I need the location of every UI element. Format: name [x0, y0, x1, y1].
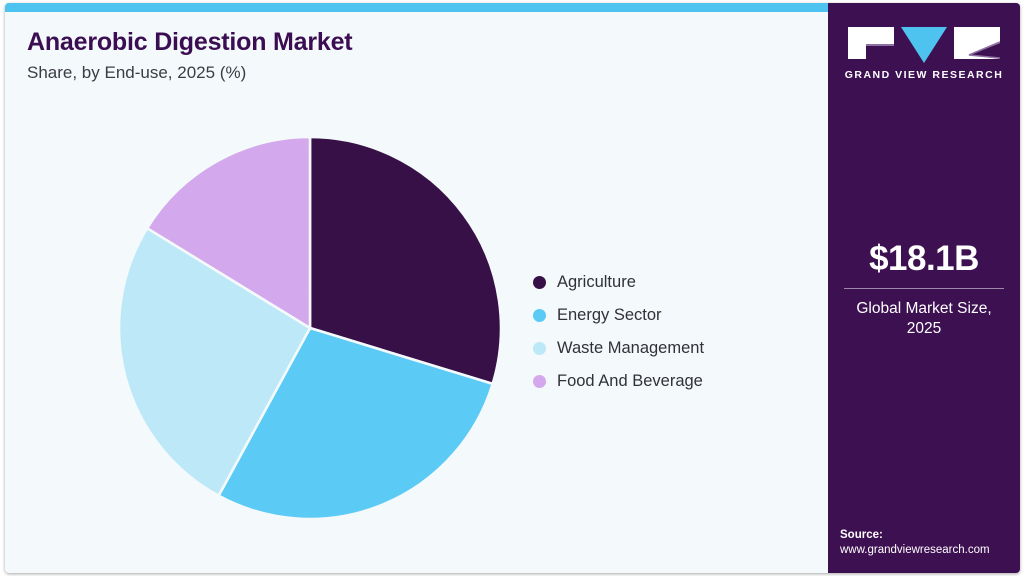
- page-title: Anaerobic Digestion Market: [27, 29, 627, 57]
- source-url[interactable]: www.grandviewresearch.com: [840, 543, 1020, 559]
- logo-wordmark: GRAND VIEW RESEARCH: [828, 69, 1020, 81]
- chart-legend: AgricultureEnergy SectorWaste Management…: [533, 266, 793, 398]
- source-block: Source: www.grandviewresearch.com: [840, 528, 1020, 559]
- chart-card: Anaerobic Digestion Market Share, by End…: [5, 3, 1020, 573]
- page-subtitle: Share, by End-use, 2025 (%): [27, 63, 627, 83]
- logo-r-block: [954, 27, 1000, 59]
- source-label: Source:: [840, 528, 1020, 544]
- legend-item-label: Food And Beverage: [557, 372, 703, 391]
- legend-item[interactable]: Energy Sector: [533, 299, 793, 332]
- side-panel: GRAND VIEW RESEARCH $18.1B Global Market…: [828, 3, 1020, 573]
- legend-item[interactable]: Waste Management: [533, 332, 793, 365]
- legend-color-swatch-icon: [533, 309, 546, 322]
- pie-chart: [113, 131, 507, 525]
- legend-item[interactable]: Food And Beverage: [533, 365, 793, 398]
- legend-item-label: Waste Management: [557, 339, 704, 358]
- stat-caption: Global Market Size, 2025: [828, 299, 1020, 339]
- legend-color-swatch-icon: [533, 342, 546, 355]
- pie-chart-svg: [113, 131, 507, 525]
- logo-g-block: [848, 27, 894, 59]
- legend-item[interactable]: Agriculture: [533, 266, 793, 299]
- logo-v-triangle: [901, 27, 947, 63]
- legend-item-label: Agriculture: [557, 273, 636, 292]
- stat-divider: [844, 288, 1004, 289]
- legend-item-label: Energy Sector: [557, 306, 662, 325]
- chart-header: Anaerobic Digestion Market Share, by End…: [27, 29, 627, 83]
- brand-logo: GRAND VIEW RESEARCH: [828, 25, 1020, 81]
- legend-color-swatch-icon: [533, 375, 546, 388]
- logo-marks-svg: [848, 25, 1000, 63]
- stat-block: $18.1B Global Market Size, 2025: [828, 241, 1020, 339]
- chart-area: AgricultureEnergy SectorWaste Management…: [5, 98, 825, 568]
- stat-value: $18.1B: [828, 241, 1020, 276]
- legend-color-swatch-icon: [533, 276, 546, 289]
